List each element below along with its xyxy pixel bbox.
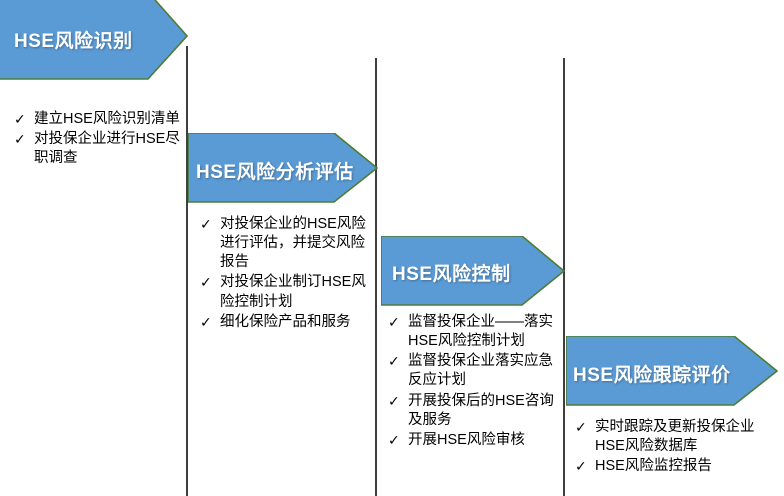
check-icon: ✓ — [14, 130, 26, 148]
list-item: ✓ 对投保企业的HSE风险进行评估，并提交风险报告 — [198, 215, 370, 272]
list-item: ✓ 细化保险产品和服务 — [198, 313, 370, 332]
list-item-label: 开展HSE风险审核 — [408, 431, 558, 450]
arrow-shape-icon — [0, 0, 188, 80]
list-item-label: 对投保企业的HSE风险进行评估，并提交风险报告 — [220, 215, 370, 272]
arrow-shape-icon — [566, 336, 778, 406]
check-icon: ✓ — [200, 273, 212, 291]
stage-divider-1 — [186, 46, 188, 496]
list-item: ✓ 建立HSE风险识别清单 — [12, 110, 180, 129]
list-item-label: 建立HSE风险识别清单 — [34, 110, 180, 129]
list-item: ✓ 监督投保企业落实应急反应计划 — [386, 352, 558, 390]
check-icon: ✓ — [388, 392, 400, 410]
check-icon: ✓ — [200, 215, 212, 233]
stage-4-arrow-banner[interactable] — [566, 336, 778, 406]
check-icon: ✓ — [575, 418, 587, 436]
stage-2-list: ✓ 对投保企业的HSE风险进行评估，并提交风险报告 ✓ 对投保企业制订HSE风险… — [198, 215, 370, 333]
list-item-label: 监督投保企业——落实HSE风险控制计划 — [408, 313, 558, 351]
hse-process-diagram: HSE风险识别 ✓ 建立HSE风险识别清单 ✓ 对投保企业进行HSE尽职调查 H… — [0, 0, 784, 496]
check-icon: ✓ — [388, 352, 400, 370]
list-item-label: 对投保企业进行HSE尽职调查 — [34, 130, 180, 168]
list-item: ✓ 开展HSE风险审核 — [386, 431, 558, 450]
list-item-label: 实时跟踪及更新投保企业HSE风险数据库 — [595, 418, 775, 456]
stage-1-arrow-banner[interactable] — [0, 0, 188, 80]
list-item-label: 对投保企业制订HSE风险控制计划 — [220, 273, 370, 311]
list-item: ✓ 对投保企业进行HSE尽职调查 — [12, 130, 180, 168]
check-icon: ✓ — [14, 110, 26, 128]
list-item: ✓ 监督投保企业——落实HSE风险控制计划 — [386, 313, 558, 351]
stage-2-arrow-banner[interactable] — [188, 133, 378, 203]
stage-1-list: ✓ 建立HSE风险识别清单 ✓ 对投保企业进行HSE尽职调查 — [12, 110, 180, 169]
list-item: ✓ 开展投保后的HSE咨询及服务 — [386, 392, 558, 430]
list-item-label: 细化保险产品和服务 — [220, 313, 370, 332]
list-item: ✓ 对投保企业制订HSE风险控制计划 — [198, 273, 370, 311]
arrow-shape-icon — [381, 236, 565, 306]
list-item: ✓ HSE风险监控报告 — [573, 457, 775, 476]
stage-3-list: ✓ 监督投保企业——落实HSE风险控制计划 ✓ 监督投保企业落实应急反应计划 ✓… — [386, 313, 558, 451]
list-item-label: HSE风险监控报告 — [595, 457, 775, 476]
check-icon: ✓ — [200, 313, 212, 331]
list-item-label: 监督投保企业落实应急反应计划 — [408, 352, 558, 390]
list-item: ✓ 实时跟踪及更新投保企业HSE风险数据库 — [573, 418, 775, 456]
check-icon: ✓ — [575, 457, 587, 475]
arrow-shape-icon — [188, 133, 378, 203]
list-item-label: 开展投保后的HSE咨询及服务 — [408, 392, 558, 430]
stage-divider-2 — [375, 58, 377, 496]
check-icon: ✓ — [388, 431, 400, 449]
stage-3-arrow-banner[interactable] — [381, 236, 565, 306]
check-icon: ✓ — [388, 313, 400, 331]
stage-4-list: ✓ 实时跟踪及更新投保企业HSE风险数据库 ✓ HSE风险监控报告 — [573, 418, 775, 477]
